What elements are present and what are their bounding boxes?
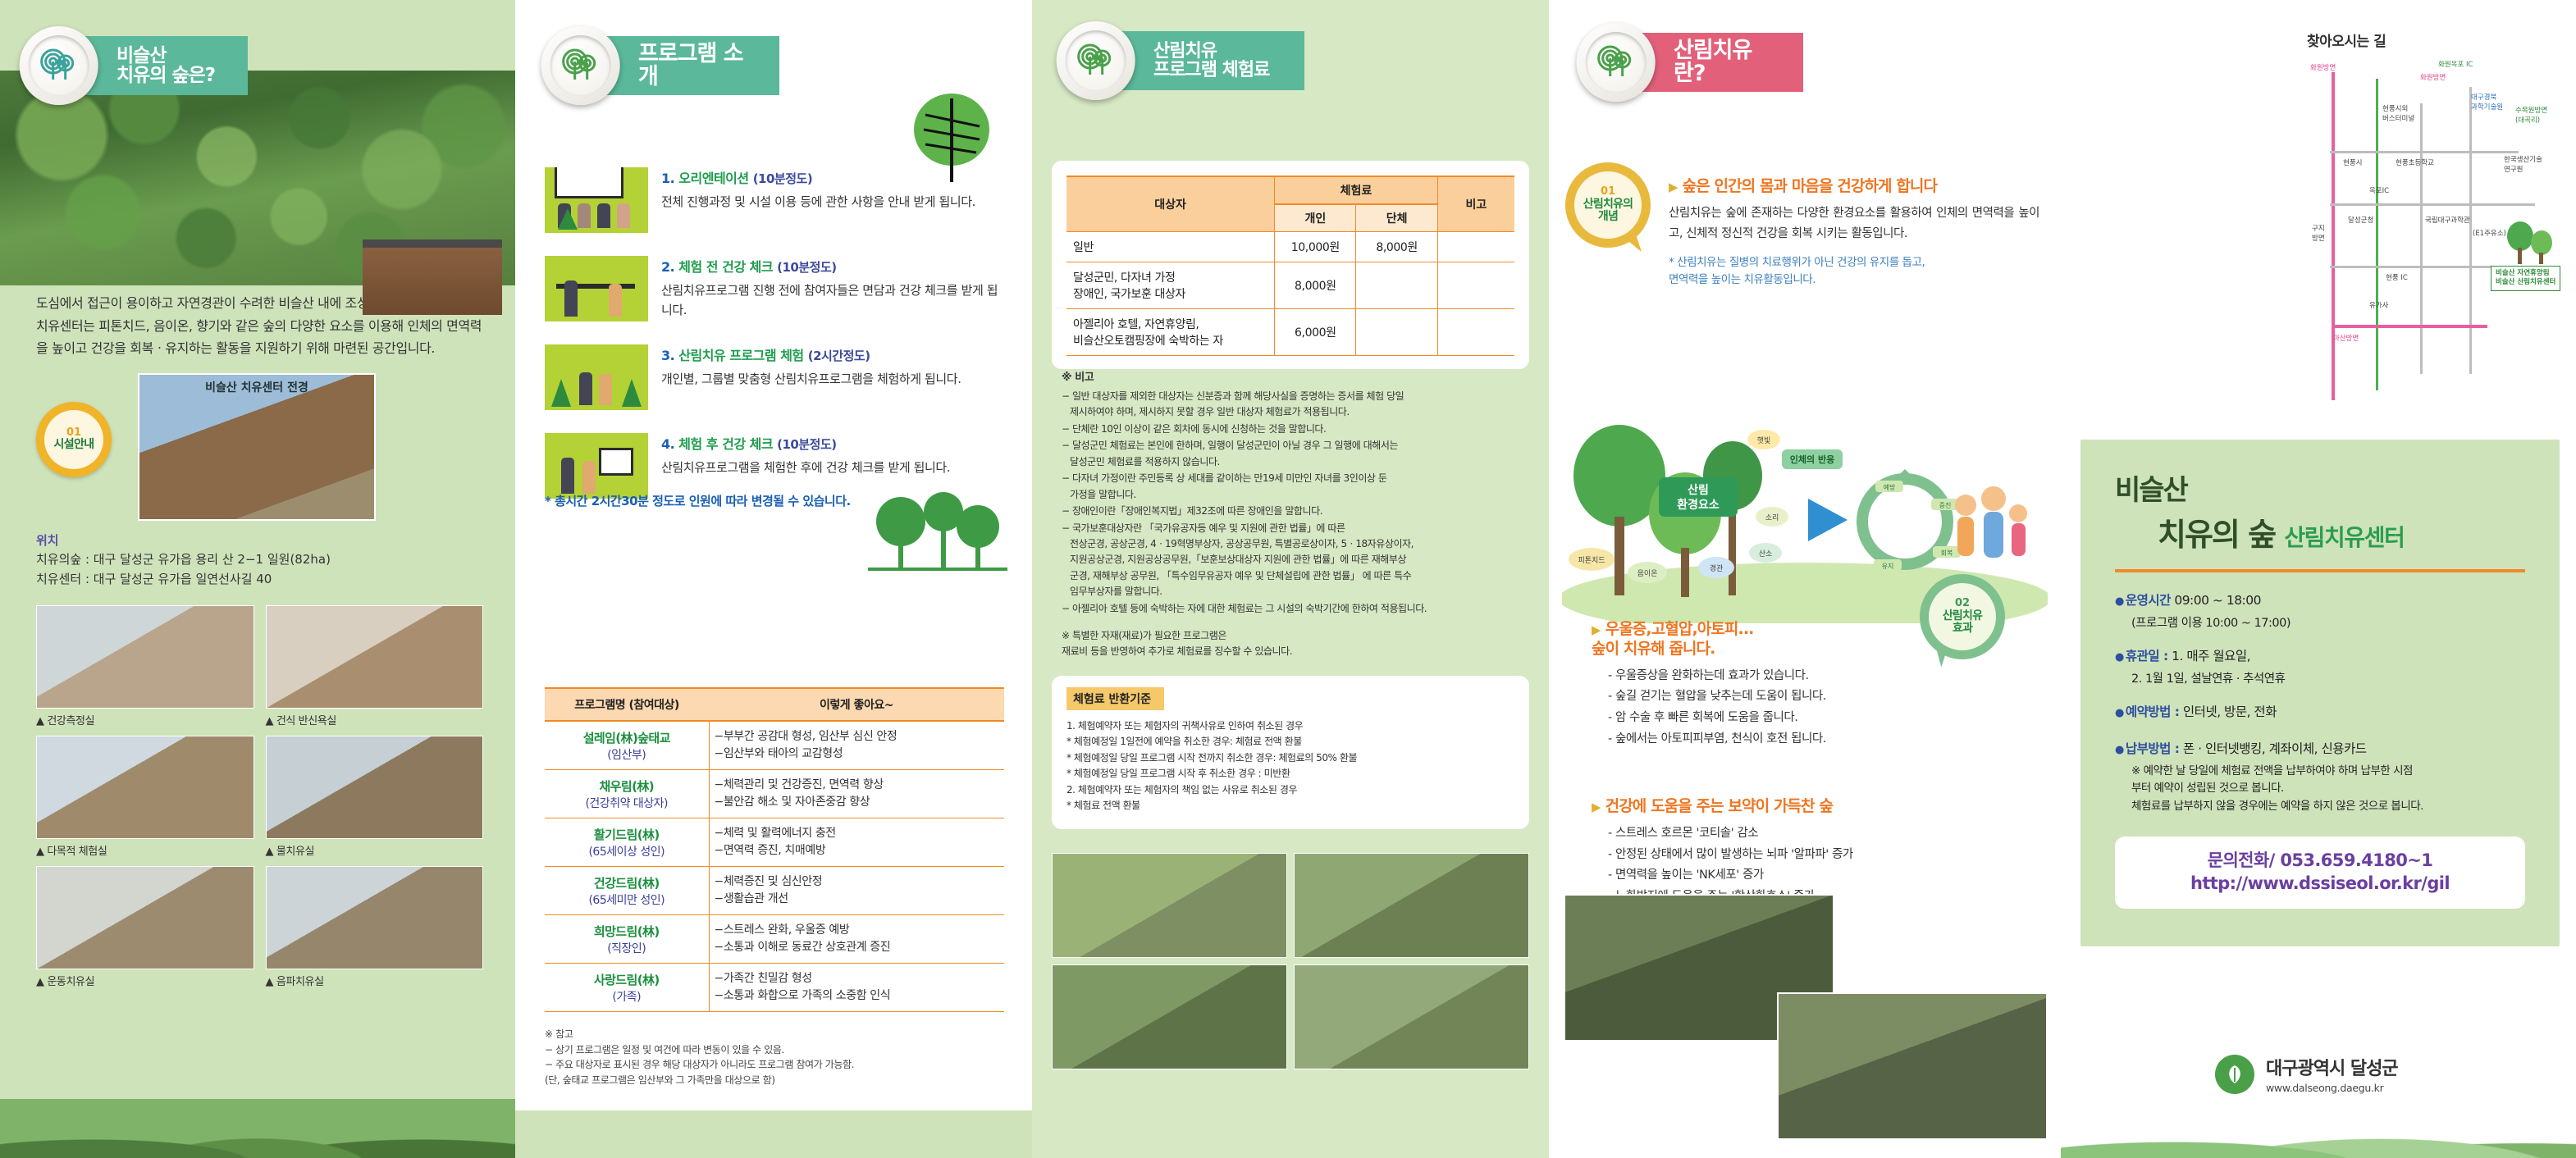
fee-header-row-1: 대상자 체험료 비고 (1066, 176, 1514, 204)
map-destination-box: 비슬산 자연휴양림 비슬산 산림치유센터 (2491, 266, 2560, 291)
map-label: 한국생산기술 연구원 (2504, 154, 2542, 174)
table-header-row: 프로그램명 (참여대상) 이렇게 좋아요~ (545, 688, 1004, 721)
program-benefits: −스트레스 완화, 우울증 예방 −소통과 이해로 동료간 상호관계 증진 (709, 915, 1004, 964)
map-label: 현풍초등학교 (2396, 157, 2434, 167)
brand-divider (2115, 569, 2525, 572)
info-closed-sub: 2. 1월 1일, 설날연휴 · 추석연휴 (2115, 670, 2525, 689)
info-closed-key: 휴관일 : (2126, 649, 2168, 663)
program-benefits: −체력 및 활력에너지 충전 −면역력 증진, 치매예방 (709, 818, 1004, 867)
fee-target: 아젤리아 호텔, 자연휴양림, 비슬산오토캠핑장에 숙박하는 자 (1066, 309, 1275, 356)
brand-line2: 치유의 숲 (2158, 517, 2275, 553)
map-road-horizontal (2330, 203, 2535, 206)
panel3-notes-title: ※ 비고 (1062, 369, 1523, 386)
effect-bullet: - 우울증상을 완화하는데 효과가 있습니다. (1608, 666, 1936, 687)
fee-th-personal: 개인 (1275, 204, 1356, 232)
panel3-note-item: − 달성군민 체험료는 본인에 한하며, 일행이 달성군민이 아닐 경우 그 일… (1062, 438, 1523, 470)
panel2-footnote-title: ※ 참고 (545, 1027, 1004, 1042)
facility-photo-item: ▲ 다목적 체험실 (36, 736, 254, 858)
panel3-note-item: − 국가보훈대상자란 「국가유공자등 예우 및 지원에 관한 법률」에 따른 전… (1062, 521, 1523, 600)
map-label: 국립대구과학관 (2425, 215, 2470, 225)
program-name: 희망드림(林) (550, 923, 704, 940)
map-label: 현풍 IC (2386, 272, 2408, 282)
facility-photo-caption: ▲ 음파치유실 (266, 969, 484, 988)
panel3-note-item: − 다자녀 가정이란 주민등록 상 세대를 같이하는 만19세 미만인 자녀를 … (1062, 471, 1523, 503)
step-duration: (10분정도) (777, 260, 837, 275)
program-target: (임산부) (607, 749, 646, 762)
table-row: 활기드림(林)(65세이상 성인)−체력 및 활력에너지 충전 −면역력 증진,… (545, 818, 1004, 867)
program-name: 채우림(林) (550, 777, 704, 795)
panel4-effect-section-1: ▶우울증,고혈압,아토피... 숲이 치유해 줍니다. - 우울증상을 완화하는… (1592, 620, 1936, 750)
step-number: 4. (661, 436, 674, 452)
fee-row: 달성군민, 다자녀 가정 장애인, 국가보훈 대상자8,000원 (1066, 262, 1514, 309)
fee-group: 8,000원 (1356, 232, 1437, 262)
panel1-title-line2: 치유의 숲은? (116, 66, 215, 85)
th-program-name: 프로그램명 (참여대상) (545, 688, 709, 721)
brand-line2-sub: 산림치유센터 (2284, 524, 2404, 551)
table-row: 건강드림(林)(65세미만 성인)−체력증진 및 심신안정 −생활습관 개선 (545, 867, 1004, 915)
facility-photo-image (266, 605, 484, 709)
program-step: 3. 산림치유 프로그램 체험 (2시간정도) 개인별, 그룹별 맞춤형 산림치… (545, 344, 1004, 410)
concept-badge-line2: 개념 (1598, 211, 1618, 224)
step-number: 1. (661, 171, 674, 186)
fee-personal: 6,000원 (1275, 309, 1356, 356)
map-road-vertical (2469, 87, 2472, 374)
fee-target: 달성군민, 다자녀 가정 장애인, 국가보훈 대상자 (1066, 262, 1275, 309)
fee-th-fee: 체험료 (1275, 176, 1438, 204)
panel1-location-line1: 치유의숲 : 대구 달성군 유가읍 용리 산 2−1 일원(82ha) (36, 550, 496, 569)
effect-bullet: - 암 수술 후 빠른 회복에 도움을 줍니다. (1608, 708, 1936, 729)
refund-item: * 체험예정일 당일 프로그램 시작 후 취소한 경우 : 미반환 (1066, 766, 1514, 782)
brand-info-block: 비슬산 치유의 숲 산림치유센터 ●운영시간 09:00 ~ 18:00 (프로… (2080, 440, 2560, 946)
map-label: 마산방면 (2333, 333, 2359, 343)
svg-text:산소: 산소 (1759, 549, 1773, 558)
info-booking-key: 예약방법 : (2126, 704, 2180, 719)
tree-pair-logo-icon (1057, 21, 1135, 100)
activity-photo (1052, 964, 1287, 1069)
step-duration: (10분정도) (753, 171, 813, 186)
refund-policy-list: 1. 체험예약자 또는 체험자의 귀책사유로 인하여 취소된 경우 * 체험예정… (1066, 718, 1514, 814)
diagram-family-figures (1955, 486, 2027, 558)
fee-group (1356, 262, 1437, 309)
refund-item: 2. 체험예약자 또는 체험자의 책임 없는 사유로 취소된 경우 (1066, 782, 1514, 798)
panel2-footer-band (515, 1110, 1032, 1158)
program-name: 건강드림(林) (550, 874, 704, 891)
panel3-note-item: − 단체란 10인 이상이 같은 회차에 동시에 신청하는 것을 말합니다. (1062, 422, 1523, 437)
step-title: 체험 후 건강 체크 (678, 436, 773, 452)
map-label: 화원방면 (2420, 72, 2446, 82)
table-row: 사랑드림(林)(가족)−가족간 친밀감 형성 −소통과 화합으로 가족의 소중함… (545, 964, 1004, 1012)
map-green-route (2376, 79, 2378, 390)
info-payment-key: 납부방법 : (2126, 741, 2180, 756)
table-row: 희망드림(林)(직장인)−스트레스 완화, 우울증 예방 −소통과 이해로 동료… (545, 915, 1004, 964)
map-label: 화원방면 (2310, 62, 2336, 72)
panel2-footnote-item: − 주요 대상자로 표시된 경우 해당 대상자가 아니라도 프로그램 참여가 가… (545, 1057, 1004, 1073)
facility-photo-image (266, 866, 484, 969)
panel1-location-title: 위치 (36, 531, 496, 550)
fee-th-target: 대상자 (1066, 176, 1275, 232)
program-target: (건강취약 대상자) (585, 797, 668, 810)
svg-text:음이온: 음이온 (1637, 569, 1658, 578)
svg-text:유지: 유지 (1882, 563, 1894, 570)
program-step-image (545, 256, 648, 321)
fee-personal: 10,000원 (1275, 232, 1356, 262)
effect-badge-line1: 산림치유 (1943, 610, 1982, 623)
effect-bullet: - 안정된 상태에서 많이 발생하는 뇌파 '알파파' 증가 (1608, 845, 2035, 866)
panel1-hero-building (363, 239, 502, 315)
panel5-footer-hills (2061, 1110, 2576, 1158)
panel1-location-block: 위치 치유의숲 : 대구 달성군 유가읍 용리 산 2−1 일원(82ha) 치… (36, 531, 496, 589)
panel2-steps-list: 1. 오리엔테이션 (10분정도) 전체 진행과정 및 시설 이용 등에 관한 … (545, 167, 1004, 522)
program-step-image (545, 344, 648, 410)
fee-remark (1437, 262, 1514, 309)
map-road-horizontal (2330, 151, 2519, 153)
info-booking: ●예약방법 : 인터넷, 방문, 전화 (2115, 702, 2525, 723)
effect-bullet: - 면역력을 높이는 'NK세포' 증가 (1608, 865, 2035, 887)
svg-text:경관: 경관 (1710, 563, 1724, 573)
emblem-url: www.dalseong.daegu.kr (2266, 1082, 2398, 1094)
info-payment-sub: ※ 예약한 날 당일에 체험료 전액을 납부하여야 하며 납부한 시점 부터 예… (2115, 763, 2525, 816)
info-hours-key: 운영시간 (2126, 593, 2171, 608)
fee-remark (1437, 309, 1514, 356)
program-name: 활기드림(林) (550, 826, 704, 843)
effect-bullets-1: - 우울증상을 완화하는데 효과가 있습니다. - 숲길 걷기는 혈압을 낮추는… (1592, 666, 1936, 750)
fee-target: 일반 (1066, 232, 1275, 262)
program-benefits: −부부간 공감대 형성, 임산부 심신 안정 −임산부와 태아의 교감형성 (709, 721, 1004, 770)
panel3-note-item: − 일반 대상자를 제외한 대상자는 신분증과 함께 해당사실을 증명하는 증서… (1062, 389, 1523, 421)
panel-forest-healing: 산림치유란? 01 산림치유의 개념 (1549, 0, 2061, 1158)
panel3-title-line1: 산림치유 (1153, 42, 1269, 61)
program-step-image (545, 167, 648, 233)
map-label: 옥포IC (2369, 185, 2389, 195)
program-target: (직장인) (607, 942, 646, 955)
map-title: 찾아오시는 길 (2307, 30, 2386, 50)
info-closed: ●휴관일 : 1. 매주 월요일, (2115, 646, 2525, 667)
effect-bullet: - 스트레스 호르몬 '코티솔' 감소 (1608, 823, 2035, 845)
program-step: 2. 체험 전 건강 체크 (10분정도) 산림치유프로그램 진행 전에 참여자… (545, 256, 1004, 321)
facility-photo-item: ▲ 물치유실 (266, 736, 484, 858)
svg-text:산림: 산림 (1688, 483, 1709, 497)
svg-text:환경요소: 환경요소 (1677, 498, 1720, 512)
tree-pair-logo-icon (20, 26, 98, 105)
step-number: 2. (661, 259, 674, 275)
step-body-text: 개인별, 그룹별 맞춤형 산림치유프로그램을 체험하게 됩니다. (661, 369, 1004, 389)
fee-row: 일반10,000원8,000원 (1066, 232, 1514, 262)
info-payment: ●납부방법 : 폰 · 인터넷뱅킹, 계좌이체, 신용카드 (2115, 739, 2525, 759)
map-label: 화원옥포 IC (2438, 59, 2473, 69)
effect-badge-number: 02 (1955, 598, 1970, 610)
facility-photo-image (36, 736, 254, 839)
facility-photo-caption: ▲ 건강측정실 (36, 709, 254, 727)
facility-photo-image (36, 866, 254, 969)
refund-item: * 체험예정일 1일전에 예약을 취소한 경우: 체험료 전액 환불 (1066, 734, 1514, 750)
info-booking-value: 인터넷, 방문, 전화 (2183, 704, 2277, 719)
effect-bullet: - 숲길 걷기는 혈압을 낮추는데 도움이 됩니다. (1608, 686, 1936, 708)
map-road-vertical (2420, 103, 2423, 374)
program-target: (가족) (612, 991, 641, 1004)
panel3-extra-note: ※ 특별한 자재(재료)가 필요한 프로그램은 재료비 등을 반영하여 추가로 … (1062, 628, 1523, 659)
panel5-footer: 대구광역시 달성군 www.dalseong.daegu.kr (2061, 1035, 2576, 1158)
effect-heading-1: 우울증,고혈압,아토피... 숲이 치유해 줍니다. (1592, 620, 1753, 658)
activity-photo (1052, 853, 1287, 958)
panel-fees: 산림치유 프로그램 체험료 대상자 체험 (1032, 0, 1549, 1158)
emblem-name: 대구광역시 달성군 (2266, 1054, 2398, 1080)
effect-badge-line2: 효과 (1953, 622, 1972, 636)
map-label: 현풍시외 버스터미널 (2382, 103, 2414, 123)
concept-body: 산림치유는 숲에 존재하는 다양한 환경요소를 활용하여 인체의 면역력을 높이… (1669, 203, 2039, 244)
panel3-activity-photos (1052, 853, 1529, 1069)
contact-phone[interactable]: 문의전화/ 053.659.4180~1 (2131, 850, 2509, 873)
map-label: 유가사 (2369, 300, 2388, 310)
panel1-facility-badge: 01 시설안내 (36, 402, 112, 477)
dalseong-emblem: 대구광역시 달성군 www.dalseong.daegu.kr (2215, 1054, 2398, 1094)
concept-badge-line1: 산림치유의 (1583, 198, 1633, 212)
svg-text:인체의 반응: 인체의 반응 (1790, 454, 1834, 465)
triangle-bullet-icon: ▶ (1592, 800, 1601, 814)
activity-photo (1294, 964, 1529, 1069)
panel4-activity-photos (1564, 886, 2048, 1132)
panel-biseulsan-intro: 비슬산 치유의 숲은? 도심에서 접근이 용이하고 자연경관이 수려한 비슬산 … (0, 0, 515, 1158)
table-row: 설레임(林)숲태교(임산부)−부부간 공감대 형성, 임산부 심신 안정 −임산… (545, 721, 1004, 770)
dalseong-leaf-emblem-icon (2215, 1055, 2254, 1094)
tree-pair-logo-icon (541, 26, 620, 105)
panel2-footnote-item: (단, 숲태교 프로그램은 임산부와 그 가족만을 대상으로 함) (545, 1073, 1004, 1088)
facility-photo-image (36, 605, 254, 709)
program-step: 1. 오리엔테이션 (10분정도) 전체 진행과정 및 시설 이용 등에 관한 … (545, 167, 1004, 233)
step-body-text: 전체 진행과정 및 시설 이용 등에 관한 사항을 안내 받게 됩니다. (661, 192, 1004, 212)
refund-policy-title: 체험료 반환기준 (1066, 687, 1164, 710)
step-title: 산림치유 프로그램 체험 (678, 348, 803, 363)
map-tree-icon (2501, 218, 2558, 267)
facility-photo-image (266, 736, 484, 839)
fee-group (1356, 309, 1437, 356)
facility-photo-item: ▲ 건강측정실 (36, 605, 254, 727)
facility-photo-caption: ▲ 운동치유실 (36, 969, 254, 988)
panel4-concept-section: ▶숲은 인간의 몸과 마음을 건강하게 합니다 산림치유는 숲에 존재하는 다양… (1669, 177, 2039, 289)
facility-photo-caption: ▲ 건식 반신욕실 (266, 709, 484, 727)
step-duration: (10분정도) (777, 437, 837, 452)
info-hours-value: 09:00 ~ 18:00 (2174, 593, 2261, 608)
map-label: 수목원방면 (대곡리) (2515, 105, 2547, 125)
directions-map: 화원방면 화원옥포 IC 화원방면 대구경북 과학기술원 현풍시외 버스터미널 … (2297, 54, 2568, 448)
facility-photo-caption: ▲ 다목적 체험실 (36, 839, 254, 858)
triangle-bullet-icon: ▶ (1592, 622, 1601, 637)
info-hours-sub: (프로그램 이용 10:00 ~ 17:00) (2115, 614, 2525, 633)
fee-th-remark: 비고 (1437, 176, 1514, 232)
panel1-title-line1: 비슬산 (116, 46, 215, 66)
panel-directions-contact: 찾아오시는 길 화원방면 화원옥포 IC 화원방면 대구경북 과학기술원 현풍시… (2061, 0, 2576, 1158)
tree-pair-logo-icon (1577, 23, 1656, 102)
map-pink-route-horizontal (2332, 325, 2487, 328)
concept-note: * 산림치유는 질병의 치료행위가 아닌 건강의 유지를 돕고, 면역력을 높이… (1669, 254, 2039, 289)
panel2-footnotes: ※ 참고 − 상기 프로그램은 일정 및 여건에 따라 변동이 있을 수 있음.… (545, 1027, 1004, 1087)
panel1-badge-label: 시설안내 (53, 439, 94, 451)
th-benefit: 이렇게 좋아요~ (709, 688, 1004, 721)
program-benefit-table: 프로그램명 (참여대상) 이렇게 좋아요~ 설레임(林)숲태교(임산부)−부부간… (545, 687, 1004, 1012)
svg-text:증진: 증진 (1939, 501, 1952, 509)
step-body-text: 산림치유프로그램 진행 전에 참여자들은 면담과 건강 체크를 받게 됩니다. (661, 280, 1004, 320)
effect-heading-2: 건강에 도움을 주는 보약이 가득찬 숲 (1605, 797, 1833, 815)
program-name: 설레임(林)숲태교 (550, 729, 704, 746)
panel3-notes: ※ 비고 − 일반 대상자를 제외한 대상자는 신분증과 함께 해당사실을 증명… (1062, 369, 1523, 618)
refund-item: 1. 체험예약자 또는 체험자의 귀책사유로 인하여 취소된 경우 (1066, 718, 1514, 734)
refund-item: * 체험료 전액 환불 (1066, 798, 1514, 814)
program-benefits: −체력증진 및 심신안정 −생활습관 개선 (709, 867, 1004, 915)
refund-policy-card: 체험료 반환기준 1. 체험예약자 또는 체험자의 귀책사유로 인하여 취소된 … (1052, 676, 1529, 829)
program-target: (65세이상 성인) (588, 846, 665, 859)
concept-heading: 숲은 인간의 몸과 마음을 건강하게 합니다 (1683, 177, 1937, 195)
program-target: (65세미만 성인) (588, 894, 665, 907)
panel2-title: 프로그램 소개 (638, 43, 756, 89)
program-name: 사랑드림(林) (550, 971, 704, 988)
triangle-bullet-icon: ▶ (1669, 180, 1678, 194)
fee-personal: 8,000원 (1275, 262, 1356, 309)
fee-row: 아젤리아 호텔, 자연휴양림, 비슬산오토캠핑장에 숙박하는 자6,000원 (1066, 309, 1514, 356)
panel3-title-line2: 프로그램 체험료 (1153, 61, 1269, 80)
map-label: 대구경북 과학기술원 (2471, 92, 2503, 112)
program-step-image (545, 433, 648, 499)
step-duration: (2시간정도) (808, 349, 870, 363)
panel1-header: 비슬산 치유의 숲은? (53, 36, 248, 95)
brand-line1: 비슬산 (2115, 467, 2525, 508)
panel3-note-item: − 아젤리아 호텔 등에 숙박하는 자에 대한 체험료는 그 시설의 숙박기간에… (1062, 601, 1523, 617)
info-closed-value: 1. 매주 월요일, (2172, 649, 2250, 663)
map-pink-route (2332, 72, 2335, 400)
panel1-center-photo (138, 373, 376, 521)
panel1-footer-hills (0, 1099, 515, 1158)
activity-photo (1294, 853, 1529, 958)
svg-text:소리: 소리 (1765, 513, 1779, 522)
facility-photo-item: ▲ 운동치유실 (36, 866, 254, 988)
fee-table: 대상자 체험료 비고 개인 단체 일반10,000원8,000원 달성군민, 다… (1066, 176, 1514, 356)
fee-table-card: 대상자 체험료 비고 개인 단체 일반10,000원8,000원 달성군민, 다… (1052, 161, 1529, 369)
info-payment-value: 폰 · 인터넷뱅킹, 계좌이체, 신용카드 (2183, 741, 2367, 756)
map-label: 구지 방면 (2312, 223, 2325, 243)
panel2-header: 프로그램 소개 (574, 36, 779, 95)
svg-text:햇빛: 햇빛 (1757, 435, 1771, 445)
program-benefits: −가족간 친밀감 형성 −소통과 화합으로 가족의 소중함 인식 (709, 964, 1004, 1012)
effect-bullet: - 숲에서는 아토피피부염, 천식이 호전 됩니다. (1608, 729, 1936, 750)
refund-item: * 체험예정일 당일 프로그램 시작 전까지 취소한 경우: 체험료의 50% … (1066, 750, 1514, 766)
facility-photo-item: ▲ 음파치유실 (266, 866, 484, 988)
step-title: 체험 전 건강 체크 (678, 259, 773, 275)
contact-url[interactable]: http://www.dssiseol.or.kr/gil (2131, 873, 2509, 896)
facility-photo-caption: ▲ 물치유실 (266, 839, 484, 858)
program-benefits: −체력관리 및 건강증진, 면역력 향상 −불안감 해소 및 자아존중감 향상 (709, 770, 1004, 818)
svg-text:예방: 예방 (1884, 483, 1896, 491)
panel-program-intro: 프로그램 소개 (515, 0, 1032, 1158)
map-label: 달성군청 (2348, 215, 2373, 225)
panel1-facility-photo-grid: ▲ 건강측정실 ▲ 건식 반신욕실 ▲ 다목적 체험실 ▲ 물치유실 ▲ 운동치… (36, 605, 483, 988)
svg-text:피톤치드: 피톤치드 (1578, 555, 1605, 565)
fee-remark (1437, 232, 1514, 262)
panel2-footnote-item: − 상기 프로그램은 일정 및 여건에 따라 변동이 있을 수 있음. (545, 1042, 1004, 1058)
panel2-decor-forest-icon (868, 484, 1007, 582)
panel4-title: 산림치유란? (1674, 39, 1780, 86)
panel3-note-item: − 장애인이란「장애인복지법」제32조에 따른 장애인을 말합니다. (1062, 504, 1523, 519)
map-label: 현풍시 (2343, 157, 2362, 167)
concept-badge-number: 01 (1601, 186, 1615, 198)
step-number: 3. (661, 348, 674, 363)
panel4-header: 산림치유란? (1610, 33, 1803, 92)
panel3-header: 산림치유 프로그램 체험료 (1089, 31, 1304, 90)
panel1-hero-forest-photo (0, 71, 515, 285)
table-row: 채우림(林)(건강취약 대상자)−체력관리 및 건강증진, 면역력 향상 −불안… (545, 770, 1004, 818)
fee-th-group: 단체 (1356, 204, 1437, 232)
step-body-text: 산림치유프로그램을 체험한 후에 건강 체크를 받게 됩니다. (661, 458, 1004, 477)
info-hours: ●운영시간 09:00 ~ 18:00 (2115, 590, 2525, 611)
activity-photo (1777, 992, 2048, 1140)
svg-text:회복: 회복 (1941, 549, 1953, 557)
facility-photo-item: ▲ 건식 반신욕실 (266, 605, 484, 727)
step-title: 오리엔테이션 (678, 171, 748, 186)
panel4-concept-badge: 01 산림치유의 개념 (1565, 162, 1651, 248)
contact-card[interactable]: 문의전화/ 053.659.4180~1 http://www.dssiseol… (2115, 837, 2525, 908)
panel1-location-line2: 치유센터 : 대구 달성군 유가읍 일연선사길 40 (36, 570, 496, 589)
panel1-center-photo-caption: 비슬산 치유센터 전경 (138, 379, 376, 395)
